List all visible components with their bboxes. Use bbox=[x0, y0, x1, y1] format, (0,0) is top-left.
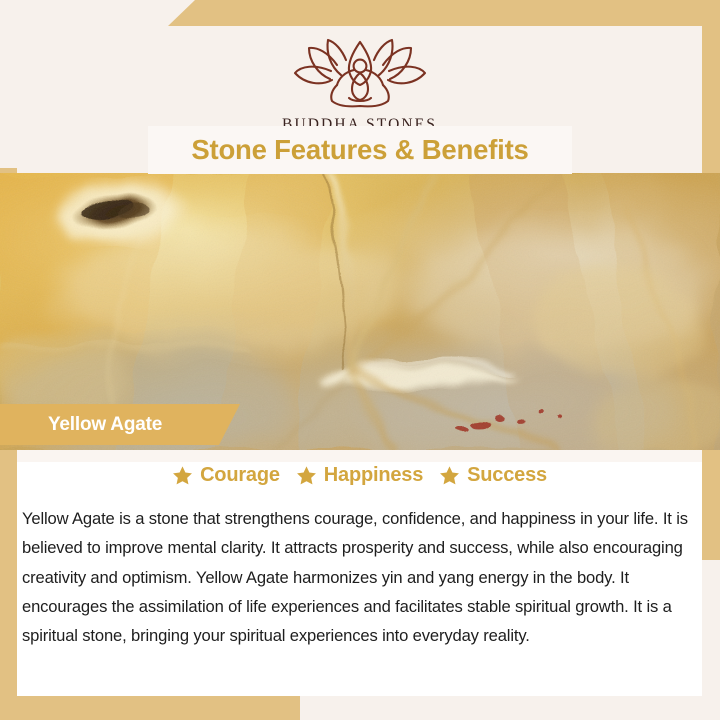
page-title: Stone Features & Benefits bbox=[191, 134, 528, 166]
stone-name-label: Yellow Agate bbox=[48, 414, 162, 436]
benefit-label: Success bbox=[467, 464, 547, 487]
section-title-card: Stone Features & Benefits bbox=[148, 126, 572, 174]
stone-description: Yellow Agate is a stone that strengthens… bbox=[22, 504, 690, 650]
card-top-tint bbox=[17, 450, 702, 462]
infographic-page: BUDDHA STONES Stone Features & Benefits bbox=[0, 0, 720, 720]
stone-name-ribbon: Yellow Agate bbox=[0, 404, 240, 445]
lotus-meditation-icon bbox=[285, 38, 435, 110]
benefit-label: Happiness bbox=[324, 464, 423, 487]
benefit-item: Happiness bbox=[296, 464, 423, 487]
benefit-label: Courage bbox=[200, 464, 280, 487]
frame-bottom-band bbox=[0, 696, 300, 720]
frame-top-band bbox=[0, 0, 720, 26]
benefit-item: Courage bbox=[172, 464, 280, 487]
star-icon bbox=[296, 465, 317, 486]
benefit-item: Success bbox=[439, 464, 547, 487]
benefits-row: Courage Happiness Success bbox=[17, 464, 702, 487]
star-icon bbox=[439, 465, 460, 486]
brand-logo: BUDDHA STONES bbox=[17, 38, 702, 134]
star-icon bbox=[172, 465, 193, 486]
content-card: Courage Happiness Success Yellow Agate i… bbox=[17, 450, 702, 696]
